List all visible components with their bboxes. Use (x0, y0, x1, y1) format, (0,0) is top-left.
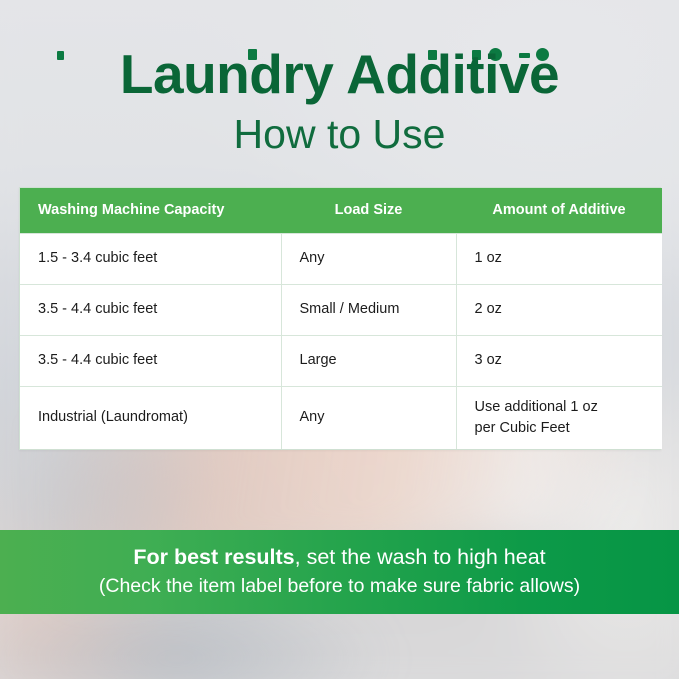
page-subtitle: How to Use (0, 112, 679, 157)
table-row: 3.5 - 4.4 cubic feet Small / Medium 2 oz (20, 284, 662, 335)
cell-capacity: 3.5 - 4.4 cubic feet (20, 335, 281, 386)
table-row: 3.5 - 4.4 cubic feet Large 3 oz (20, 335, 662, 386)
column-header-capacity: Washing Machine Capacity (20, 188, 281, 233)
cell-amount-line1: 3 oz (475, 350, 645, 371)
page-title: Laundry Additive (0, 46, 679, 104)
banner-bold-text: For best results (133, 545, 294, 569)
howto-table-container: Washing Machine Capacity Load Size Amoun… (19, 187, 661, 450)
heading-block: Laundry Additive How to Use (0, 46, 679, 157)
cell-amount: 2 oz (456, 284, 662, 335)
best-results-banner: For best results, set the wash to high h… (0, 530, 679, 614)
cell-amount-line1: 2 oz (475, 299, 645, 320)
table-head: Washing Machine Capacity Load Size Amoun… (20, 188, 662, 233)
table-row: Industrial (Laundromat) Any Use addition… (20, 386, 662, 449)
howto-table: Washing Machine Capacity Load Size Amoun… (20, 188, 662, 449)
cell-capacity: 3.5 - 4.4 cubic feet (20, 284, 281, 335)
cell-amount: 1 oz (456, 233, 662, 284)
banner-line-2: (Check the item label before to make sur… (99, 575, 580, 598)
cell-capacity: Industrial (Laundromat) (20, 386, 281, 449)
cell-amount: Use additional 1 oz per Cubic Feet (456, 386, 662, 449)
column-header-amount: Amount of Additive (456, 188, 662, 233)
cell-load-size: Large (281, 335, 456, 386)
banner-line-1: For best results, set the wash to high h… (133, 545, 545, 570)
table-row: 1.5 - 3.4 cubic feet Any 1 oz (20, 233, 662, 284)
cell-load-size: Any (281, 386, 456, 449)
cell-load-size: Any (281, 233, 456, 284)
table-body: 1.5 - 3.4 cubic feet Any 1 oz 3.5 - 4.4 … (20, 233, 662, 449)
cell-amount-line1: 1 oz (475, 248, 645, 269)
cell-amount: 3 oz (456, 335, 662, 386)
table-header-row: Washing Machine Capacity Load Size Amoun… (20, 188, 662, 233)
cell-load-size: Small / Medium (281, 284, 456, 335)
cell-capacity: 1.5 - 3.4 cubic feet (20, 233, 281, 284)
infographic-page: Laundry Additive How to Use Washing Mach… (0, 0, 679, 679)
banner-regular-text: , set the wash to high heat (295, 545, 546, 569)
cell-amount-line1: Use additional 1 oz (475, 397, 645, 418)
column-header-load-size: Load Size (281, 188, 456, 233)
cell-amount-line2: per Cubic Feet (475, 418, 645, 439)
